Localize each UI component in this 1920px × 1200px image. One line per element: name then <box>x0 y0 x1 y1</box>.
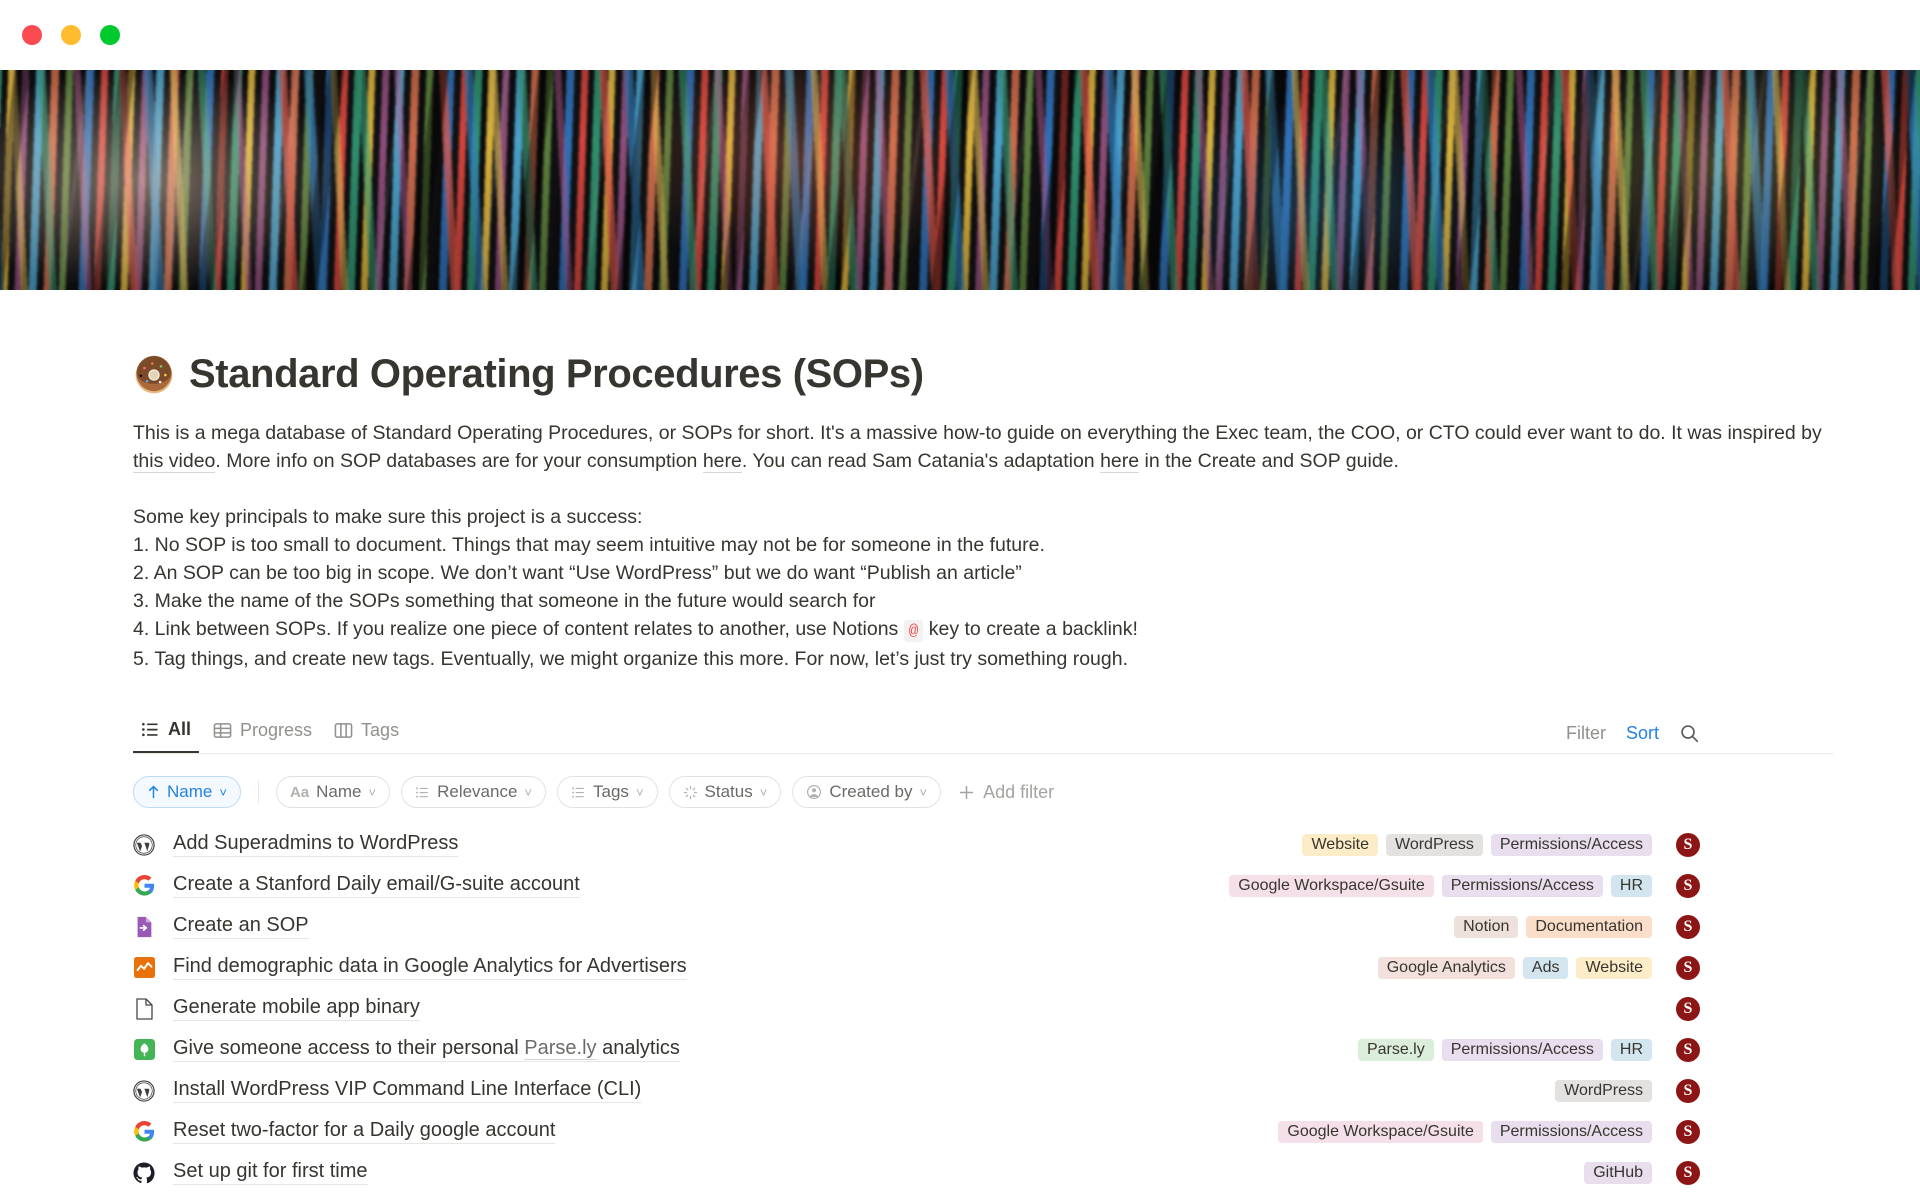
tag[interactable]: Google Workspace/Gsuite <box>1229 875 1433 897</box>
avatar[interactable]: S <box>1676 833 1700 857</box>
tag[interactable]: Permissions/Access <box>1442 1039 1603 1061</box>
multiselect-icon <box>415 785 430 800</box>
avatar[interactable]: S <box>1676 1120 1700 1144</box>
list-item[interactable]: Give someone access to their personal Pa… <box>133 1029 1833 1070</box>
principle-item-1: 1. No SOP is too small to document. Thin… <box>133 531 1833 559</box>
avatar[interactable]: S <box>1676 997 1700 1021</box>
database-view-bar: All Progress Tags Filter Sort <box>133 713 1833 754</box>
tab-progress[interactable]: Progress <box>205 713 320 753</box>
tab-all-label: All <box>168 719 191 740</box>
page-title: Standard Operating Procedures (SOPs) <box>133 352 1833 397</box>
google-icon <box>133 1121 155 1143</box>
analytics-chart-icon <box>133 957 155 979</box>
multiselect-icon <box>571 785 586 800</box>
wordpress-icon <box>133 1080 155 1102</box>
list-item[interactable]: Install WordPress VIP Command Line Inter… <box>133 1070 1833 1111</box>
avatar[interactable]: S <box>1676 1079 1700 1103</box>
list-item-title[interactable]: Create a Stanford Daily email/G-suite ac… <box>173 873 580 898</box>
tab-tags-label: Tags <box>361 720 399 741</box>
filter-chip-tags-label: Tags <box>593 782 629 802</box>
list-item-title[interactable]: Set up git for first time <box>173 1160 368 1185</box>
page-description: This is a mega database of Standard Oper… <box>133 419 1833 475</box>
list-item-title[interactable]: Find demographic data in Google Analytic… <box>173 955 687 980</box>
list-item-tags: Google Analytics Ads Website <box>1378 957 1652 979</box>
tag[interactable]: Website <box>1302 834 1378 856</box>
tab-tags[interactable]: Tags <box>326 713 407 753</box>
link-here-2[interactable]: here <box>1100 450 1139 473</box>
tag[interactable]: HR <box>1611 875 1652 897</box>
principle-item-3: 3. Make the name of the SOPs something t… <box>133 587 1833 615</box>
text-type-icon: Aa <box>290 784 309 801</box>
cover-blur <box>0 70 1920 290</box>
tag[interactable]: Documentation <box>1526 916 1652 938</box>
list-item-tags: WordPress <box>1555 1080 1652 1102</box>
list-item-title[interactable]: Give someone access to their personal Pa… <box>173 1037 680 1062</box>
chevron-down-icon: ˅ <box>369 785 377 800</box>
search-icon[interactable] <box>1679 723 1700 744</box>
tag[interactable]: Google Analytics <box>1378 957 1515 979</box>
tag[interactable]: Permissions/Access <box>1491 1121 1652 1143</box>
wordpress-icon <box>133 834 155 856</box>
desc-line-3a: databases are for your consumption <box>386 450 703 472</box>
sort-button[interactable]: Sort <box>1626 723 1659 744</box>
principle-item-4: 4. Link between SOPs. If you realize one… <box>133 615 1833 645</box>
desc-line-3c: in the Create and SOP guide. <box>1139 450 1399 472</box>
google-icon <box>133 875 155 897</box>
view-actions: Filter Sort <box>1566 723 1700 753</box>
tab-progress-label: Progress <box>240 720 312 741</box>
zoom-window-button[interactable] <box>100 25 120 45</box>
page-title-text: Standard Operating Procedures (SOPs) <box>189 352 924 397</box>
page-body: Standard Operating Procedures (SOPs) Thi… <box>0 352 1920 1193</box>
plus-icon <box>958 784 975 801</box>
database-list: Add Superadmins to WordPress Website Wor… <box>133 824 1833 1193</box>
list-item-tags: Notion Documentation <box>1454 916 1652 938</box>
list-item[interactable]: Set up git for first time GitHub S <box>133 1152 1833 1193</box>
traffic-lights <box>22 25 120 45</box>
sort-chip-label: Name <box>167 782 212 802</box>
desc-line-1: This is a mega database of Standard Oper… <box>133 422 1082 444</box>
principles-heading: Some key principals to make sure this pr… <box>133 503 1833 531</box>
add-filter-label: Add filter <box>983 782 1054 803</box>
filter-chip-created-by[interactable]: Created by ˅ <box>792 776 941 808</box>
chevron-down-icon: ˅ <box>219 785 227 800</box>
link-this-video[interactable]: this video <box>133 450 215 473</box>
filter-chip-created-by-label: Created by <box>829 782 912 802</box>
filter-divider <box>258 780 259 804</box>
avatar[interactable]: S <box>1676 1161 1700 1185</box>
list-item-title[interactable]: Add Superadmins to WordPress <box>173 832 458 857</box>
list-item-title[interactable]: Install WordPress VIP Command Line Inter… <box>173 1078 641 1103</box>
list-item-tags: Google Workspace/Gsuite Permissions/Acce… <box>1278 1121 1652 1143</box>
list-item[interactable]: Generate mobile app binary S <box>133 988 1833 1029</box>
principle-item-2: 2. An SOP can be too big in scope. We do… <box>133 559 1833 587</box>
tag[interactable]: GitHub <box>1584 1162 1652 1184</box>
list-item-tags: Parse.ly Permissions/Access HR <box>1358 1039 1652 1061</box>
avatar[interactable]: S <box>1676 1038 1700 1062</box>
github-icon <box>133 1162 155 1184</box>
filter-chip-status[interactable]: Status ˅ <box>669 776 782 808</box>
tag[interactable]: Website <box>1576 957 1652 979</box>
desc-line-3b: . You can read Sam Catania's adaptation <box>742 450 1100 472</box>
filter-chip-relevance-label: Relevance <box>437 782 517 802</box>
at-mention-code: @ <box>904 620 924 642</box>
tag[interactable]: Parse.ly <box>1358 1039 1434 1061</box>
close-window-button[interactable] <box>22 25 42 45</box>
principle-4-text-a: 4. Link between SOPs. If you realize one… <box>133 618 904 640</box>
filter-chip-row: Name ˅ Aa Name ˅ Relevance ˅ Tags ˅ <box>133 776 1833 808</box>
list-icon <box>141 720 160 739</box>
tab-all[interactable]: All <box>133 713 199 753</box>
list-item[interactable]: Reset two-factor for a Daily google acco… <box>133 1111 1833 1152</box>
filter-chip-status-label: Status <box>705 782 753 802</box>
filter-button[interactable]: Filter <box>1566 723 1606 744</box>
tag[interactable]: WordPress <box>1386 834 1483 856</box>
list-item[interactable]: Create an SOP Notion Documentation S <box>133 906 1833 947</box>
tag[interactable]: Notion <box>1454 916 1518 938</box>
tag[interactable]: WordPress <box>1555 1080 1652 1102</box>
filter-chip-tags[interactable]: Tags ˅ <box>557 776 658 808</box>
avatar[interactable]: S <box>1676 874 1700 898</box>
avatar[interactable]: S <box>1676 956 1700 980</box>
desc-line-2a: everything the Exec team, the COO, or CT… <box>1087 422 1821 444</box>
page-icon <box>133 998 155 1020</box>
document-arrow-icon <box>133 916 155 938</box>
add-filter-button[interactable]: Add filter <box>958 782 1054 803</box>
list-item-title[interactable]: Reset two-factor for a Daily google acco… <box>173 1119 555 1144</box>
tag[interactable]: Google Workspace/Gsuite <box>1278 1121 1482 1143</box>
tag[interactable]: Permissions/Access <box>1442 875 1603 897</box>
principle-4-text-b: key to create a backlink! <box>923 618 1138 640</box>
chevron-down-icon: ˅ <box>920 785 928 800</box>
view-tablist: All Progress Tags <box>133 713 407 753</box>
list-item-tags: Google Workspace/Gsuite Permissions/Acce… <box>1229 875 1652 897</box>
cover-image[interactable] <box>0 70 1920 290</box>
list-item[interactable]: Add Superadmins to WordPress Website Wor… <box>133 824 1833 865</box>
tag[interactable]: Permissions/Access <box>1491 834 1652 856</box>
sort-chip-name[interactable]: Name ˅ <box>133 776 241 808</box>
avatar[interactable]: S <box>1676 915 1700 939</box>
minimize-window-button[interactable] <box>61 25 81 45</box>
chevron-down-icon: ˅ <box>760 785 768 800</box>
tag[interactable]: HR <box>1611 1039 1652 1061</box>
list-item[interactable]: Find demographic data in Google Analytic… <box>133 947 1833 988</box>
list-item[interactable]: Create a Stanford Daily email/G-suite ac… <box>133 865 1833 906</box>
filter-chip-relevance[interactable]: Relevance ˅ <box>401 776 546 808</box>
arrow-up-icon <box>147 785 160 799</box>
list-item-title[interactable]: Generate mobile app binary <box>173 996 420 1021</box>
chevron-down-icon: ˅ <box>524 785 532 800</box>
filter-chip-name[interactable]: Aa Name ˅ <box>276 776 390 808</box>
donut-emoji-icon[interactable] <box>133 354 175 396</box>
filter-chip-name-label: Name <box>316 782 361 802</box>
principles-block: Some key principals to make sure this pr… <box>133 503 1833 673</box>
window-titlebar <box>0 0 1920 70</box>
table-icon <box>213 721 232 740</box>
status-icon <box>683 785 698 800</box>
list-item-tags: Website WordPress Permissions/Access <box>1302 834 1652 856</box>
paragraph-spacer <box>133 475 1833 503</box>
principle-item-5: 5. Tag things, and create new tags. Even… <box>133 645 1833 673</box>
person-icon <box>806 784 822 800</box>
chevron-down-icon: ˅ <box>636 785 644 800</box>
desc-line-2b: . More info on SOP <box>215 450 380 472</box>
board-icon <box>334 721 353 740</box>
parsely-icon <box>133 1039 155 1061</box>
list-item-title[interactable]: Create an SOP <box>173 914 309 939</box>
list-item-tags: GitHub <box>1584 1162 1652 1184</box>
link-here-1[interactable]: here <box>703 450 742 473</box>
tag[interactable]: Ads <box>1523 957 1569 979</box>
